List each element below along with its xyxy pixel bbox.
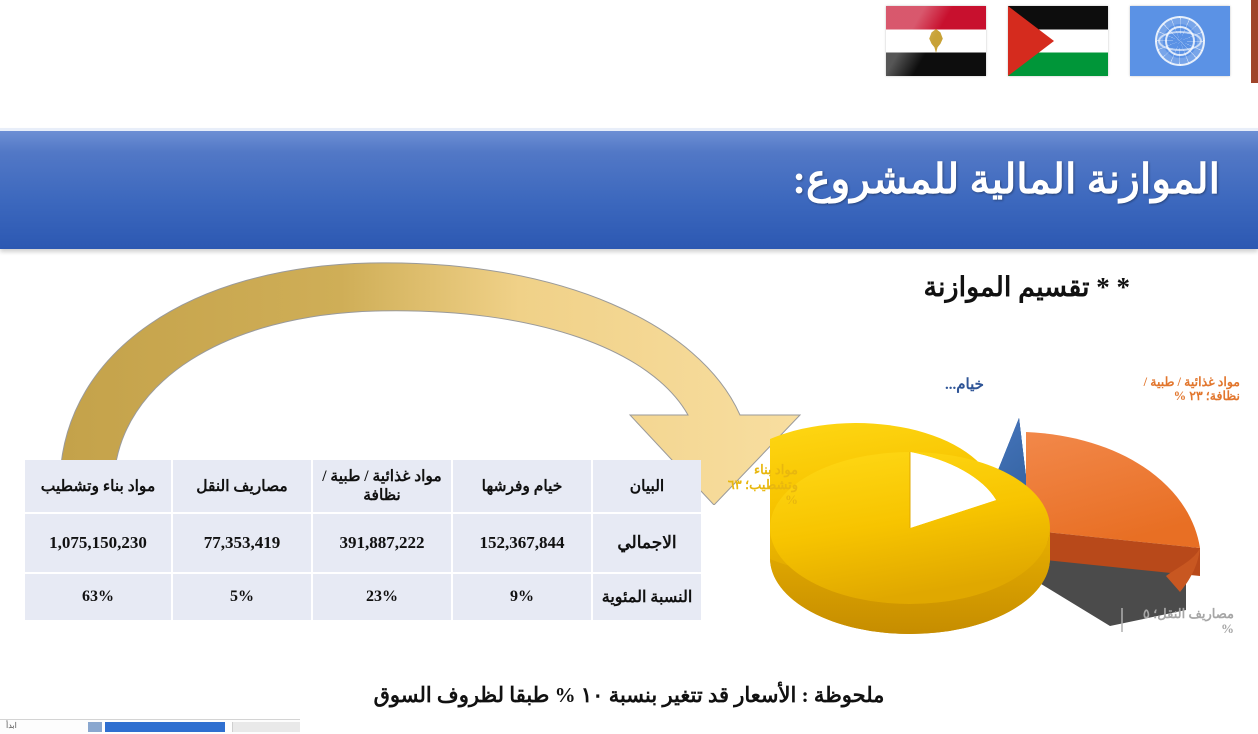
un-flag: [1130, 6, 1230, 76]
right-edge-strip: [1251, 0, 1258, 83]
total-food: 391,887,222: [313, 514, 451, 572]
taskbar-tray: [232, 722, 300, 732]
un-emblem-icon: [1155, 16, 1205, 66]
pie-label-construction: مواد بناء وتشطيب؛ ٦٣ %: [726, 463, 798, 508]
table-header-bayan: البيان: [593, 460, 701, 512]
egypt-flag: [886, 6, 986, 76]
taskbar-fragment: ابدأ: [0, 719, 300, 734]
pie-label-transport: مصاريف النقل؛ ٥ %: [1140, 607, 1234, 637]
palestine-flag: [1008, 6, 1108, 76]
table-header-tents: خيام وفرشها: [453, 460, 591, 512]
page-title: الموازنة المالية للمشروع:: [792, 155, 1220, 203]
pie-label-food-medical: مواد غذائية / طبية /نظافة؛ ٢٣ %: [1132, 375, 1240, 404]
row-label-percentage: النسبة المئوية: [593, 574, 701, 620]
palestine-triangle: [1008, 6, 1054, 76]
flags-strip: [886, 6, 1230, 76]
taskbar-start-label[interactable]: ابدأ: [6, 721, 17, 730]
total-construction: 1,075,150,230: [25, 514, 171, 572]
taskbar-app-icon[interactable]: [88, 722, 102, 732]
title-banner: الموازنة المالية للمشروع:: [0, 128, 1258, 249]
table-row: الاجمالي 152,367,844 391,887,222 77,353,…: [25, 514, 701, 572]
taskbar-active-window[interactable]: [105, 722, 225, 732]
table-header-transport: مصاريف النقل: [173, 460, 311, 512]
pct-construction: 63%: [25, 574, 171, 620]
table-header-construction: مواد بناء وتشطيب: [25, 460, 171, 512]
total-transport: 77,353,419: [173, 514, 311, 572]
table-header-food: مواد غذائية / طبية /نظافة: [313, 460, 451, 512]
pct-food: 23%: [313, 574, 451, 620]
pie-label-tents: خيام...: [945, 377, 984, 394]
total-tents: 152,367,844: [453, 514, 591, 572]
section-heading: * * تقسيم الموازنة: [924, 272, 1130, 303]
budget-table: البيان خيام وفرشها مواد غذائية / طبية /ن…: [23, 458, 703, 622]
pct-transport: 5%: [173, 574, 311, 620]
row-label-total: الاجمالي: [593, 514, 701, 572]
pct-tents: 9%: [453, 574, 591, 620]
table-header-row: البيان خيام وفرشها مواد غذائية / طبية /ن…: [25, 460, 701, 512]
footer-note: ملحوظة : الأسعار قد تتغير بنسبة ١٠ % طبق…: [0, 683, 1258, 708]
table-row: النسبة المئوية 9% 23% 5% 63%: [25, 574, 701, 620]
flag-sheen: [886, 6, 986, 76]
